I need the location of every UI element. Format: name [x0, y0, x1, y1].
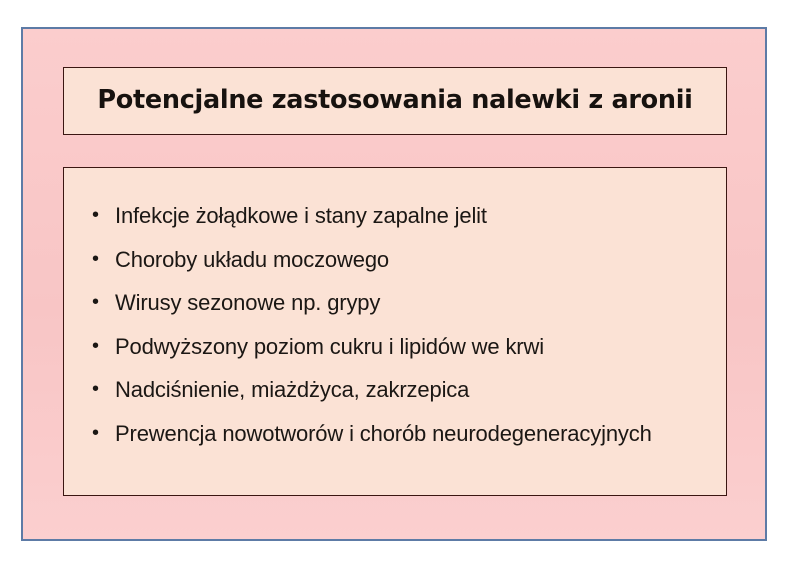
list-item-label: Nadciśnienie, miażdżyca, zakrzepica: [115, 368, 714, 412]
slide-title: Potencjalne zastosowania nalewki z aroni…: [97, 88, 692, 114]
list-item-label: Prewencja nowotworów i chorób neurodegen…: [115, 412, 714, 456]
bullet-dot-icon: •: [92, 281, 102, 325]
bullet-dot-icon: •: [92, 412, 102, 456]
bullet-dot-icon: •: [92, 368, 102, 412]
slide-canvas: Potencjalne zastosowania nalewki z aroni…: [21, 27, 767, 541]
list-item-label: Podwyższony poziom cukru i lipidów we kr…: [115, 325, 714, 369]
list-item: • Wirusy sezonowe np. grypy: [64, 281, 726, 325]
list-item-label: Choroby układu moczowego: [115, 238, 714, 282]
slide-root: Potencjalne zastosowania nalewki z aroni…: [0, 0, 800, 577]
list-item-label: Infekcje żołądkowe i stany zapalne jelit: [115, 194, 714, 238]
bullet-dot-icon: •: [92, 325, 102, 369]
list-item: • Infekcje żołądkowe i stany zapalne jel…: [64, 194, 726, 238]
bullet-dot-icon: •: [92, 194, 102, 238]
body-box: • Infekcje żołądkowe i stany zapalne jel…: [63, 167, 727, 496]
title-box: Potencjalne zastosowania nalewki z aroni…: [63, 67, 727, 135]
bullet-list: • Infekcje żołądkowe i stany zapalne jel…: [64, 168, 726, 455]
slide-content-area: Potencjalne zastosowania nalewki z aroni…: [23, 29, 765, 539]
list-item: • Prewencja nowotworów i chorób neurodeg…: [64, 412, 726, 456]
list-item: • Podwyższony poziom cukru i lipidów we …: [64, 325, 726, 369]
list-item: • Choroby układu moczowego: [64, 238, 726, 282]
list-item-label: Wirusy sezonowe np. grypy: [115, 281, 714, 325]
list-item: • Nadciśnienie, miażdżyca, zakrzepica: [64, 368, 726, 412]
bullet-dot-icon: •: [92, 238, 102, 282]
